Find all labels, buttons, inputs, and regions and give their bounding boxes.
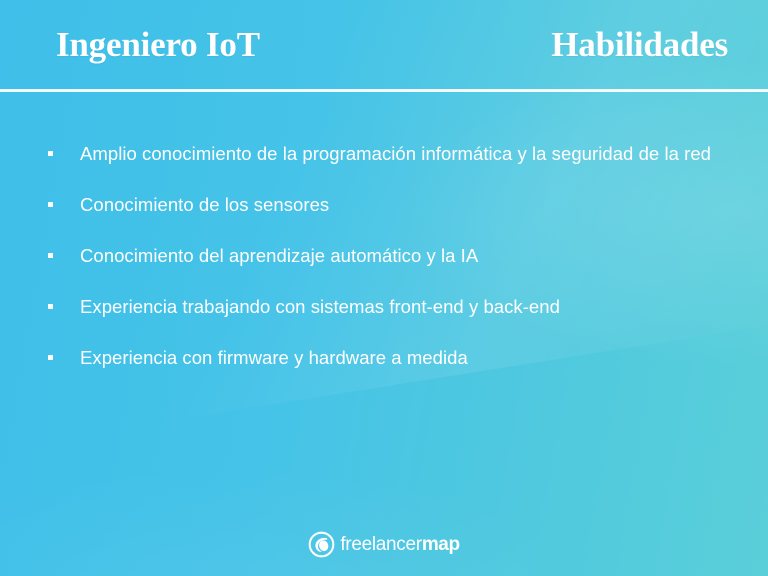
list-item-label: Experiencia trabajando con sistemas fron… [80, 296, 560, 317]
logo-wordmark: freelancermap [340, 535, 459, 554]
list-item: Conocimiento de los sensores [46, 183, 714, 226]
bullet-square-icon [48, 355, 53, 360]
list-item-label: Conocimiento del aprendizaje automático … [80, 245, 478, 266]
slide: Ingeniero IoT Habilidades Amplio conocim… [0, 0, 768, 576]
freelancermap-logo: freelancermap [308, 531, 459, 558]
slide-header: Ingeniero IoT Habilidades [0, 0, 768, 89]
bullet-square-icon [48, 151, 53, 156]
bullet-square-icon [48, 202, 53, 207]
list-item: Conocimiento del aprendizaje automático … [46, 234, 714, 277]
header-divider [0, 89, 768, 92]
list-item-label: Amplio conocimiento de la programación i… [80, 143, 711, 164]
bullet-square-icon [48, 253, 53, 258]
list-item: Experiencia con firmware y hardware a me… [46, 336, 714, 379]
bullet-square-icon [48, 304, 53, 309]
list-item: Amplio conocimiento de la programación i… [46, 132, 714, 175]
slide-footer: freelancermap [0, 531, 768, 558]
list-item-label: Experiencia con firmware y hardware a me… [80, 347, 468, 368]
section-title: Habilidades [551, 27, 728, 62]
list-item: Experiencia trabajando con sistemas fron… [46, 285, 714, 328]
logo-word-freelancer: freelancer [340, 534, 422, 555]
freelancermap-swirl-icon [308, 531, 335, 558]
skills-list: Amplio conocimiento de la programación i… [46, 132, 714, 379]
slide-content: Amplio conocimiento de la programación i… [0, 132, 768, 387]
logo-word-map: map [422, 534, 460, 555]
page-title: Ingeniero IoT [56, 27, 260, 62]
list-item-label: Conocimiento de los sensores [80, 194, 329, 215]
